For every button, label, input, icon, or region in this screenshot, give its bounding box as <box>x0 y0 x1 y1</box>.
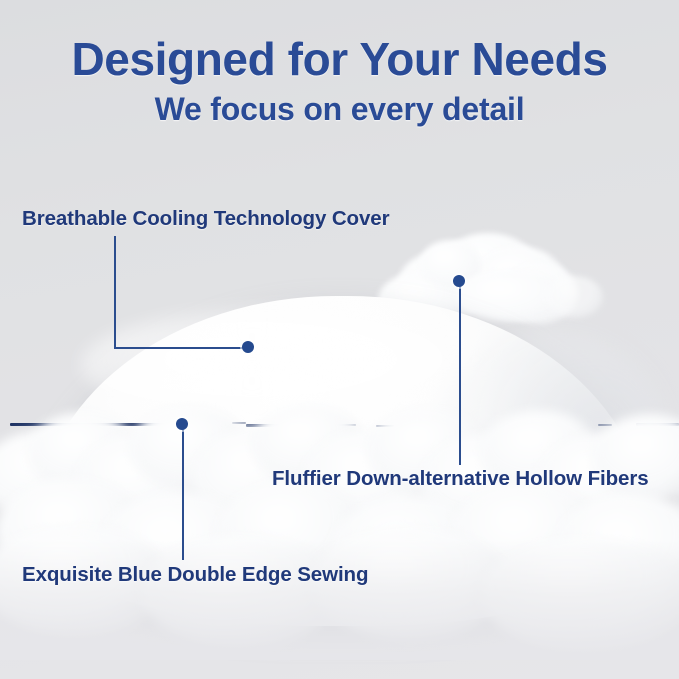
callout-label-cover: Breathable Cooling Technology Cover <box>22 207 389 231</box>
callout-dot-icon-sewing <box>176 418 188 430</box>
annotation-overlay: Designed for Your Needs We focus on ever… <box>0 0 679 679</box>
page-subtitle: We focus on every detail <box>0 93 679 125</box>
leader-line-cover-vertical <box>114 236 116 348</box>
leader-line-sewing-vertical <box>182 428 184 560</box>
promo-graphic: Designed for Your Needs We focus on ever… <box>0 0 679 679</box>
callout-label-fibers: Fluffier Down-alternative Hollow Fibers <box>272 467 649 491</box>
page-title: Designed for Your Needs <box>0 36 679 82</box>
callout-label-sewing: Exquisite Blue Double Edge Sewing <box>22 563 368 587</box>
callout-dot-icon-fibers <box>453 275 465 287</box>
leader-line-fibers-vertical <box>459 284 461 465</box>
callout-dot-icon-cover <box>242 341 254 353</box>
leader-line-cover-horizontal <box>114 347 248 349</box>
